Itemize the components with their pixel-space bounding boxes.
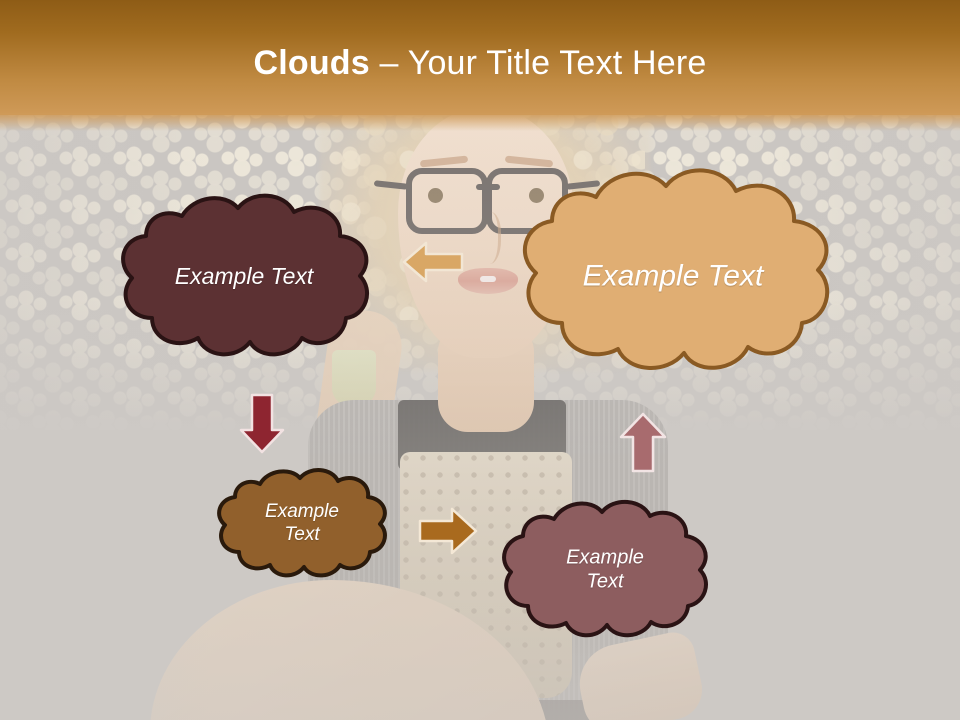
cloud-orange-label: Example Text <box>508 259 838 296</box>
cloud-brown-label-line1: Example <box>265 501 339 522</box>
slide-title-bar: Clouds – Your Title Text Here <box>0 0 960 115</box>
cloud-mauve-label-line1: Example <box>566 547 644 569</box>
arrow-left-icon[interactable] <box>402 240 464 284</box>
cloud-shape-maroon[interactable]: Example Text <box>112 190 376 362</box>
arrow-down-icon[interactable] <box>238 392 286 454</box>
cloud-shape-mauve[interactable]: Example Text <box>496 497 714 643</box>
title-rest-part: Your Title Text Here <box>408 44 707 82</box>
arrow-right-svg <box>418 506 478 556</box>
arrow-down-svg <box>238 392 286 454</box>
glasses-bridge <box>476 184 500 190</box>
nose-shape <box>476 212 501 264</box>
arrow-up-icon[interactable] <box>618 412 668 474</box>
cloud-mauve-label: Example Text <box>496 546 714 595</box>
lip-highlight <box>480 276 496 282</box>
arrow-left-svg <box>402 240 464 284</box>
arrow-right-icon[interactable] <box>418 506 478 556</box>
cloud-brown-label-line2: Text <box>284 524 319 545</box>
title-separator: – <box>370 44 408 82</box>
cloud-mauve-label-line2: Text <box>586 571 623 593</box>
page-title: Clouds – Your Title Text Here <box>253 32 706 83</box>
cloud-shape-orange[interactable]: Example Text <box>508 163 838 391</box>
cloud-maroon-label: Example Text <box>112 262 376 290</box>
title-bold-part: Clouds <box>253 44 369 82</box>
arrow-up-svg <box>618 412 668 474</box>
presentation-slide: Clouds – Your Title Text Here Example Te… <box>0 0 960 720</box>
cloud-brown-label: Example Text <box>212 500 392 546</box>
cloud-shape-brown[interactable]: Example Text <box>212 466 392 580</box>
